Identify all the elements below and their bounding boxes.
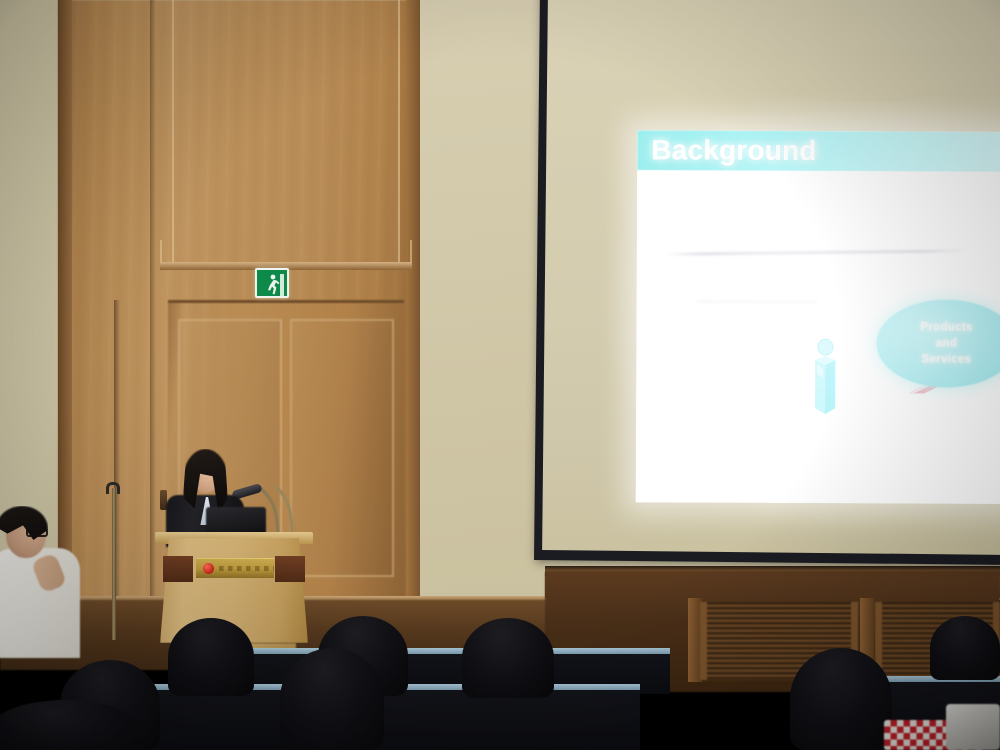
podium-plaque — [196, 558, 274, 578]
slide-faint-text-line — [697, 301, 817, 304]
slide-body: Products and Services — [636, 170, 1000, 504]
ellipse-label-line-3: Services — [921, 351, 971, 367]
products-services-ellipse: Products and Services — [876, 299, 1000, 388]
ellipse-label-line-1: Products — [920, 319, 972, 335]
inset-wood-panel — [172, 0, 400, 268]
projected-slide: Background — [636, 130, 1000, 504]
exit-door-glyph — [280, 274, 284, 296]
conference-room-photo: Background — [0, 0, 1000, 750]
conference-chair — [930, 616, 1000, 680]
slide-title: Background — [651, 134, 816, 167]
podium-side-accent — [275, 556, 305, 582]
conference-chair — [168, 618, 254, 696]
plaque-engraved-text — [219, 566, 274, 571]
slide-faint-text-line — [667, 249, 967, 255]
running-person-glyph — [266, 274, 281, 296]
gray-case — [946, 704, 1000, 750]
conference-chair — [790, 648, 892, 750]
column-seam — [150, 0, 156, 620]
column-left-edge — [58, 0, 72, 620]
emergency-exit-running-person-icon — [255, 268, 289, 298]
conference-chair — [462, 618, 554, 698]
microphone-stand-icon — [112, 488, 116, 640]
podium-side-accent — [163, 556, 193, 582]
ellipse-label-line-2: and — [936, 336, 957, 352]
projection-screen-frame: Background — [534, 0, 1000, 565]
person-3d-icon — [810, 338, 840, 416]
column-right-edge — [406, 0, 420, 620]
microphone-clip-icon — [106, 482, 120, 494]
conference-chair — [280, 648, 384, 750]
circular-red-emblem — [203, 563, 214, 574]
projection-screen-surface: Background — [542, 0, 1000, 555]
audience-member-glasses — [26, 528, 48, 537]
